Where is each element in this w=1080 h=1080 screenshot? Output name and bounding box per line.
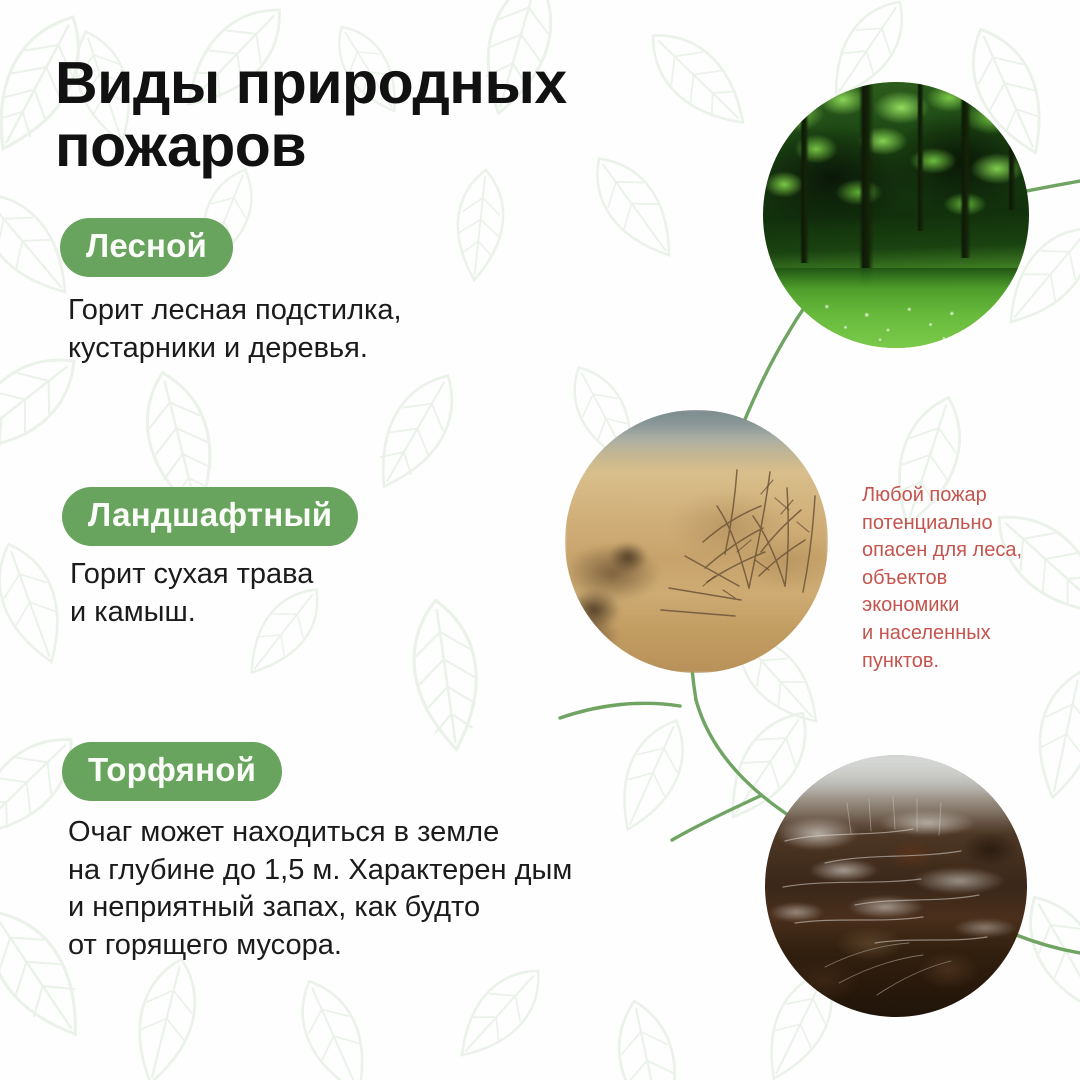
infographic-poster: Виды природных пожаров Лесной Горит лесн… bbox=[0, 0, 1080, 1080]
description-peat-fire: Очаг может находиться в земле на глубине… bbox=[68, 814, 572, 965]
warning-note: Любой пожар потенциально опасен для леса… bbox=[862, 482, 1034, 675]
badge-peat-fire[interactable]: Торфяной bbox=[62, 742, 282, 801]
page-title: Виды природных пожаров bbox=[55, 52, 695, 177]
badge-forest-fire[interactable]: Лесной bbox=[60, 218, 233, 277]
badge-landscape-fire[interactable]: Ландшафтный bbox=[62, 487, 358, 546]
description-forest-fire: Горит лесная подстилка, кустарники и дер… bbox=[68, 292, 402, 367]
text-content-layer: Виды природных пожаров Лесной Горит лесн… bbox=[0, 0, 1080, 1080]
description-landscape-fire: Горит сухая трава и камыш. bbox=[70, 556, 313, 631]
